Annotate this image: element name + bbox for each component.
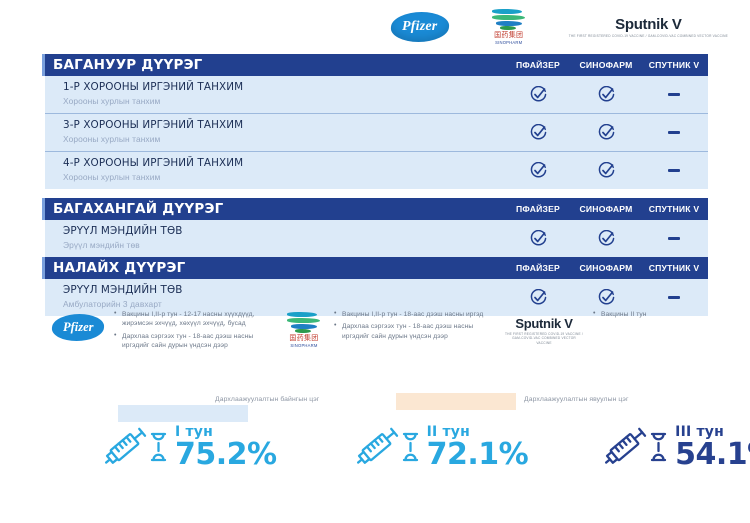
site-location: Эрүүл мэндийн төв: [63, 238, 504, 252]
column-header-2: СИНОФАРМ: [572, 198, 640, 220]
sputnik-legend-logo-text: Sputnik V: [505, 316, 583, 331]
sinopharm-logo-cn: 国药集团: [483, 32, 535, 40]
sinopharm-mark-icon: [287, 312, 321, 334]
site-location: Хорооны хурлын танхим: [63, 132, 504, 146]
stat-dose-2: II тун72.1%: [352, 424, 529, 470]
district-name: БАГАНУУР ДҮҮРЭГ: [45, 54, 504, 76]
dose-text: II тун72.1%: [427, 425, 529, 470]
sputnik-logo-text: Sputnik V: [569, 16, 728, 33]
site-info: 1-Р ХОРООНЫ ИРГЭНИЙ ТАНХИМХорооны хурлын…: [45, 76, 504, 113]
check-icon: [598, 162, 615, 179]
site-location: Хорооны хурлын танхим: [63, 94, 504, 108]
site-name: ЭРҮҮЛ МЭНДИЙН ТӨВ: [63, 283, 504, 297]
availability-cell-1: [504, 152, 572, 189]
sinopharm-logo-header: 国药集团 SINOPHARM: [483, 9, 535, 45]
table-row[interactable]: 1-Р ХОРООНЫ ИРГЭНИЙ ТАНХИМХорооны хурлын…: [45, 76, 708, 113]
availability-cell-1: [504, 220, 572, 257]
sinopharm-logo-en: SINOPHARM: [483, 40, 535, 45]
column-header-1: ПФАЙЗЕР: [504, 198, 572, 220]
dash-icon: [668, 237, 680, 240]
district-block: БАГАХАНГАЙ ДҮҮРЭГПФАЙЗЕРСИНОФАРМСПУТНИК …: [42, 198, 708, 257]
dash-icon: [668, 93, 680, 96]
district-name: НАЛАЙХ ДҮҮРЭГ: [45, 257, 504, 279]
availability-cell-2: [572, 76, 640, 113]
check-icon: [530, 162, 547, 179]
column-header-3: СПУТНИК V: [640, 257, 708, 279]
availability-cell-1: [504, 114, 572, 151]
coverage-stats: I тун75.2%II тун72.1%III тун54.1%: [0, 424, 750, 470]
availability-cell-3: [640, 76, 708, 113]
column-header-1: ПФАЙЗЕР: [504, 257, 572, 279]
vaccination-points-table: БАГАНУУР ДҮҮРЭГПФАЙЗЕРСИНОФАРМСПУТНИК V1…: [42, 54, 708, 316]
mobile-point-swatch: [396, 393, 516, 410]
dose-text: III тун54.1%: [675, 425, 750, 470]
availability-cell-2: [572, 114, 640, 151]
dash-icon: [668, 169, 680, 172]
dash-icon: [668, 131, 680, 134]
sputnik-logo-header: Sputnik V THE FIRST REGISTERED COVID-19 …: [569, 16, 728, 38]
check-icon: [530, 86, 547, 103]
check-icon: [530, 124, 547, 141]
site-name: 4-Р ХОРООНЫ ИРГЭНИЙ ТАНХИМ: [63, 156, 504, 170]
check-icon: [598, 289, 615, 306]
pfizer-logo-header: Pfizer: [389, 12, 450, 42]
check-icon: [530, 289, 547, 306]
district-rows: 1-Р ХОРООНЫ ИРГЭНИЙ ТАНХИМХорооны хурлын…: [42, 76, 708, 189]
dash-icon: [668, 296, 680, 299]
list-item: Дархлаа сэргээх тун - 18-аас дээш насны …: [334, 322, 499, 341]
site-name: 3-Р ХОРООНЫ ИРГЭНИЙ ТАНХИМ: [63, 118, 504, 132]
dose-icon-group: [600, 424, 672, 470]
list-item: Дархлаа сэргээх тун - 18-аас дээш насны …: [114, 332, 282, 351]
check-icon: [598, 124, 615, 141]
list-item: Вакцины I,II-р тун - 18-аас дээш насны и…: [334, 310, 499, 319]
sputnik-logo-legend: Sputnik V THE FIRST REGISTERED COVID-19 …: [505, 316, 583, 345]
legend-sinopharm: 国药集团 SINOPHARM Вакцины I,II-р тун - 18-а…: [284, 308, 499, 348]
sinopharm-mark-icon: [492, 9, 526, 31]
site-info: 4-Р ХОРООНЫ ИРГЭНИЙ ТАНХИМХорооны хурлын…: [45, 152, 504, 189]
legend-pfizer: Pfizer Вакцины I,II-р тун - 12-17 насны …: [52, 308, 282, 354]
dose-icon-group: [100, 424, 172, 470]
district-header: БАГАНУУР ДҮҮРЭГПФАЙЗЕРСИНОФАРМСПУТНИК V: [42, 54, 708, 76]
district-block: БАГАНУУР ДҮҮРЭГПФАЙЗЕРСИНОФАРМСПУТНИК V1…: [42, 54, 708, 189]
check-icon: [530, 230, 547, 247]
district-header: НАЛАЙХ ДҮҮРЭГПФАЙЗЕРСИНОФАРМСПУТНИК V: [42, 257, 708, 279]
table-row[interactable]: 4-Р ХОРООНЫ ИРГЭНИЙ ТАНХИМХорооны хурлын…: [45, 151, 708, 189]
availability-cell-3: [640, 114, 708, 151]
sputnik-legend-bullets: Вакцины II тун: [583, 308, 647, 322]
legend-sputnik: Sputnik V THE FIRST REGISTERED COVID-19 …: [505, 308, 705, 345]
sputnik-legend-subtext: THE FIRST REGISTERED COVID-19 VACCINE / …: [505, 332, 583, 345]
row-divider: [45, 113, 708, 114]
stat-dose-3: III тун54.1%: [600, 424, 750, 470]
dose-icon-group: [352, 424, 424, 470]
stat-dose-1: I тун75.2%: [100, 424, 277, 470]
district-header: БАГАХАНГАЙ ДҮҮРЭГПФАЙЗЕРСИНОФАРМСПУТНИК …: [42, 198, 708, 220]
site-info: ЭРҮҮЛ МЭНДИЙН ТӨВЭрүүл мэндийн төв: [45, 220, 504, 257]
column-header-3: СПУТНИК V: [640, 198, 708, 220]
vaccine-legend: Pfizer Вакцины I,II-р тун - 12-17 насны …: [0, 308, 750, 354]
mobile-point-label: Дархлаажуулалтын явуулын цэг: [524, 396, 629, 403]
site-name: ЭРҮҮЛ МЭНДИЙН ТӨВ: [63, 224, 504, 238]
district-name: БАГАХАНГАЙ ДҮҮРЭГ: [45, 198, 504, 220]
syringe-hourglass-icons: [600, 424, 672, 470]
table-row[interactable]: 3-Р ХОРООНЫ ИРГЭНИЙ ТАНХИМХорооны хурлын…: [45, 113, 708, 151]
check-icon: [598, 230, 615, 247]
column-header-2: СИНОФАРМ: [572, 257, 640, 279]
header-logo-strip: Pfizer 国药集团 SINOPHARM Sputnik V THE FIRS…: [0, 6, 750, 48]
availability-cell-3: [640, 220, 708, 257]
check-icon: [598, 86, 615, 103]
sinopharm-legend-cn: 国药集团: [284, 335, 324, 343]
pfizer-legend-bullets: Вакцины I,II-р тун - 12-17 насны хүүхдүү…: [104, 308, 282, 354]
pfizer-legend-logo-text: Pfizer: [63, 320, 94, 335]
dose-percentage: 72.1%: [427, 440, 529, 470]
sinopharm-legend-en: SINOPHARM: [284, 343, 324, 348]
availability-cell-1: [504, 76, 572, 113]
sinopharm-logo-legend: 国药集团 SINOPHARM: [284, 312, 324, 348]
permanent-point-label: Дархлаажуулалтын байнгын цэг: [215, 396, 319, 403]
dose-percentage: 75.2%: [175, 440, 277, 470]
syringe-hourglass-icons: [100, 424, 172, 470]
point-type-legend: Дархлаажуулалтын байнгын цэг Дархлаажуул…: [0, 393, 750, 413]
column-header-3: СПУТНИК V: [640, 54, 708, 76]
row-divider: [45, 151, 708, 152]
permanent-point-swatch: [118, 405, 248, 422]
sputnik-logo-subtext: THE FIRST REGISTERED COVID-19 VACCINE / …: [569, 34, 728, 38]
pfizer-logo-legend: Pfizer: [51, 314, 106, 341]
column-header-2: СИНОФАРМ: [572, 54, 640, 76]
site-info: 3-Р ХОРООНЫ ИРГЭНИЙ ТАНХИМХорооны хурлын…: [45, 114, 504, 151]
column-header-1: ПФАЙЗЕР: [504, 54, 572, 76]
syringe-hourglass-icons: [352, 424, 424, 470]
district-rows: ЭРҮҮЛ МЭНДИЙН ТӨВЭрүүл мэндийн төв: [42, 220, 708, 257]
availability-cell-2: [572, 220, 640, 257]
list-item: Вакцины II тун: [593, 310, 647, 319]
dose-text: I тун75.2%: [175, 425, 277, 470]
availability-cell-2: [572, 152, 640, 189]
site-name: 1-Р ХОРООНЫ ИРГЭНИЙ ТАНХИМ: [63, 80, 504, 94]
availability-cell-3: [640, 152, 708, 189]
pfizer-logo-text: Pfizer: [402, 19, 437, 35]
table-row[interactable]: ЭРҮҮЛ МЭНДИЙН ТӨВЭрүүл мэндийн төв: [45, 220, 708, 257]
sinopharm-legend-bullets: Вакцины I,II-р тун - 18-аас дээш насны и…: [324, 308, 499, 344]
site-location: Хорооны хурлын танхим: [63, 170, 504, 184]
list-item: Вакцины I,II-р тун - 12-17 насны хүүхдүү…: [114, 310, 282, 329]
dose-percentage: 54.1%: [675, 440, 750, 470]
